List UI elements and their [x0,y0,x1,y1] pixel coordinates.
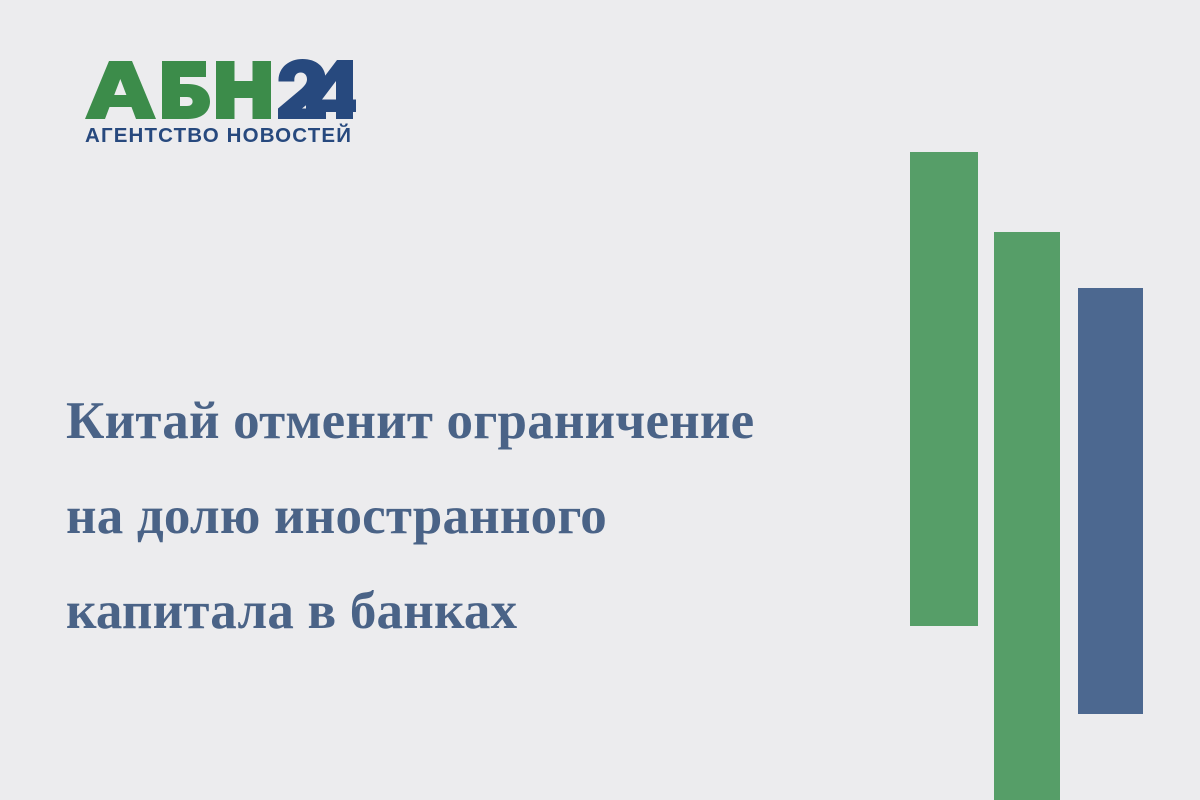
headline-line-3: капитала в банках [66,564,876,659]
headline-line-1: Китай отменит ограничение [66,374,876,469]
chart-bar-3 [1078,288,1143,714]
logo[interactable]: АГЕНТСТВО НОВОСТЕЙ [84,57,364,153]
news-card: АГЕНТСТВО НОВОСТЕЙ Китай отменит огранич… [0,0,1200,800]
logo-wordmark-icon [84,57,356,123]
headline: Китай отменит ограничение на долю иностр… [66,374,876,659]
chart-bar-1 [910,152,978,626]
chart-bar-2 [994,232,1060,800]
logo-tagline: АГЕНТСТВО НОВОСТЕЙ [85,126,352,147]
headline-line-2: на долю иностранного [66,469,876,564]
